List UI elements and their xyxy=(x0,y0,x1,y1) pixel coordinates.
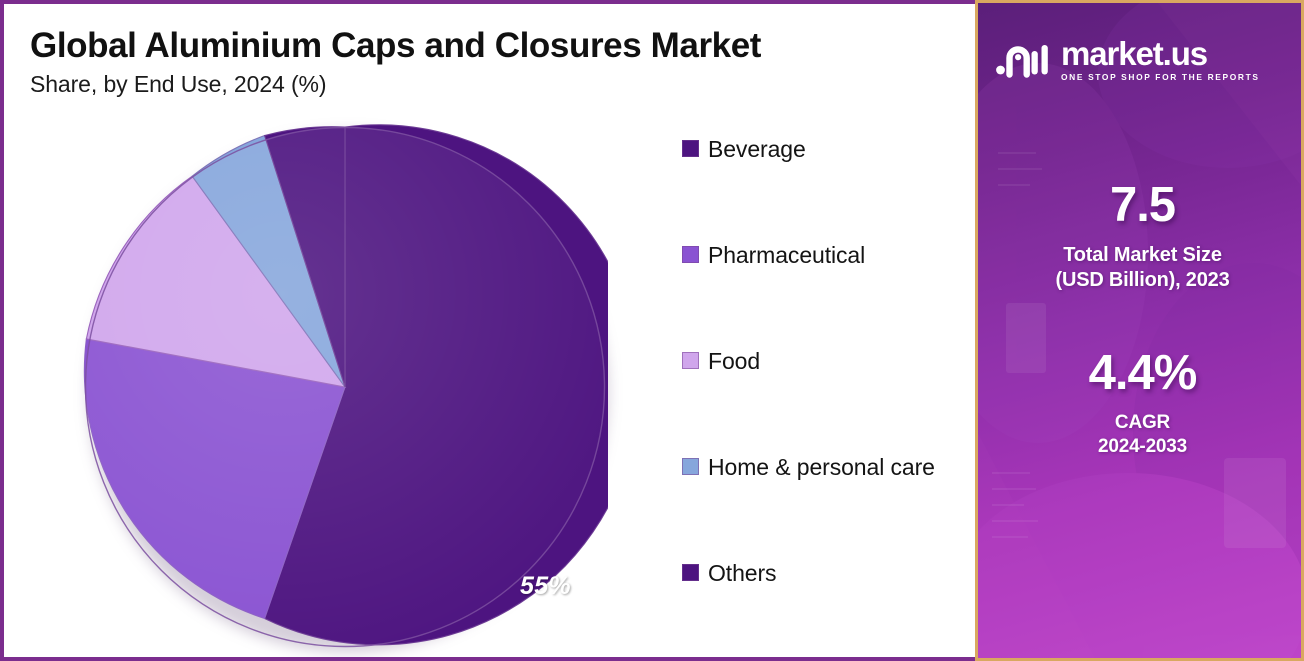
legend-swatch-icon xyxy=(682,140,699,157)
chart-legend: Beverage Pharmaceutical Food Home & pers… xyxy=(682,132,954,592)
legend-item-others[interactable]: Others xyxy=(682,556,954,592)
legend-item-label: Others xyxy=(708,556,776,592)
infographic-root: Global Aluminium Caps and Closures Marke… xyxy=(0,0,1304,661)
stat-caption-line-2: 2024-2033 xyxy=(978,435,1304,459)
brand-stats-panel: market.us ONE STOP SHOP FOR THE REPORTS … xyxy=(975,0,1304,661)
brand-logo-text: market.us ONE STOP SHOP FOR THE REPORTS xyxy=(1061,37,1260,81)
pie-slice-label-beverage: 55% xyxy=(520,572,571,601)
legend-item-beverage[interactable]: Beverage xyxy=(682,132,954,238)
stat-caption-line-2: (USD Billion), 2023 xyxy=(978,268,1304,293)
title-block: Global Aluminium Caps and Closures Marke… xyxy=(30,26,930,98)
pie-chart: 55% xyxy=(82,124,608,650)
stat-caption-line-1: CAGR xyxy=(978,411,1304,435)
stat-caption: Total Market Size (USD Billion), 2023 xyxy=(978,243,1304,293)
brand-name: market.us xyxy=(1061,37,1260,70)
stat-caption: CAGR 2024-2033 xyxy=(978,411,1304,459)
market-us-logo-icon xyxy=(995,37,1051,81)
legend-item-label: Pharmaceutical xyxy=(708,238,865,274)
page-title: Global Aluminium Caps and Closures Marke… xyxy=(30,26,930,65)
legend-swatch-icon xyxy=(682,246,699,263)
page-subtitle: Share, by End Use, 2024 (%) xyxy=(30,71,930,98)
brand-tagline: ONE STOP SHOP FOR THE REPORTS xyxy=(1061,73,1260,81)
legend-item-label: Home & personal care xyxy=(708,450,935,486)
legend-item-label: Food xyxy=(708,344,760,380)
legend-item-home-and-personal-care[interactable]: Home & personal care xyxy=(682,450,954,556)
background-photo-texture xyxy=(978,3,1304,661)
stat-caption-line-1: Total Market Size xyxy=(978,243,1304,268)
stat-cagr: 4.4% CAGR 2024-2033 xyxy=(978,349,1304,459)
stat-market-size: 7.5 Total Market Size (USD Billion), 202… xyxy=(978,181,1304,293)
chart-panel: Global Aluminium Caps and Closures Marke… xyxy=(0,0,975,661)
legend-item-pharmaceutical[interactable]: Pharmaceutical xyxy=(682,238,954,344)
stat-value: 7.5 xyxy=(978,181,1304,230)
legend-swatch-icon xyxy=(682,352,699,369)
legend-swatch-icon xyxy=(682,458,699,475)
stat-value: 4.4% xyxy=(978,349,1304,398)
legend-item-label: Beverage xyxy=(708,132,806,168)
brand-logo[interactable]: market.us ONE STOP SHOP FOR THE REPORTS xyxy=(995,37,1260,81)
legend-swatch-icon xyxy=(682,564,699,581)
legend-item-food[interactable]: Food xyxy=(682,344,954,450)
